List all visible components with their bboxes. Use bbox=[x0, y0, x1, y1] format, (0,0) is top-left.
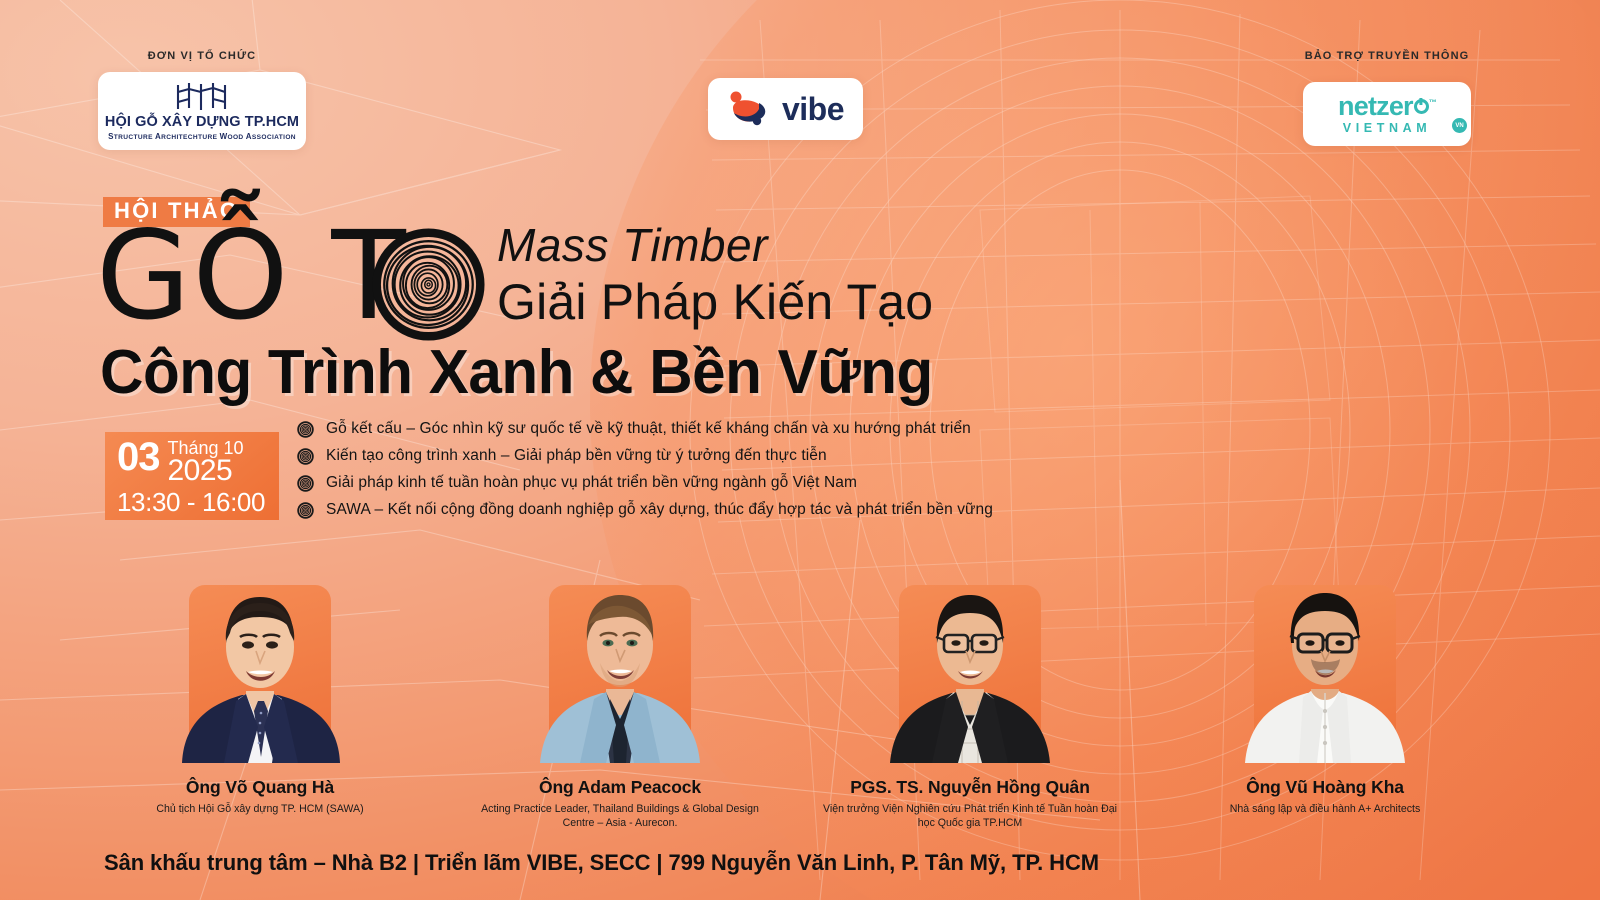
speaker-photo-frame bbox=[1145, 548, 1505, 763]
organizer-logo: HỘI GỖ XÂY DỰNG TP.HCM STRUCTURE ARCHITE… bbox=[98, 72, 306, 150]
list-item-label: Gỗ kết cấu – Góc nhìn kỹ sư quốc tế về k… bbox=[326, 420, 971, 438]
netzero-logo-country: VIETNAM bbox=[1343, 121, 1431, 135]
headline-giai-phap-kien-tao: Giải Pháp Kiến Tạo bbox=[497, 277, 933, 327]
headline-mass-timber: Mass Timber bbox=[497, 222, 768, 268]
date-box: 03 Tháng 10 2025 13:30 - 16:00 bbox=[105, 432, 279, 520]
list-item-label: Kiến tạo công trình xanh – Giải pháp bền… bbox=[326, 447, 827, 465]
speaker-photo-frame bbox=[80, 548, 440, 763]
list-item: Giải pháp kinh tế tuần hoàn phục vụ phát… bbox=[297, 474, 1297, 492]
speaker-role: Viện trưởng Viện Nghiên cứu Phát triển K… bbox=[790, 802, 1150, 831]
tree-ring-bullet-icon bbox=[297, 475, 314, 492]
headline-second-line: Công Trình Xanh & Bền Vững bbox=[100, 340, 933, 405]
portrait-adam-peacock bbox=[522, 551, 718, 763]
list-item-label: Giải pháp kinh tế tuần hoàn phục vụ phát… bbox=[326, 474, 857, 492]
organizer-logo-title: HỘI GỖ XÂY DỰNG TP.HCM bbox=[105, 114, 299, 130]
date-day: 03 bbox=[117, 438, 160, 476]
sawa-beam-mark-icon bbox=[171, 82, 233, 112]
vibe-logo-text: vibe bbox=[782, 91, 844, 128]
speaker-card: Ông Võ Quang Hà Chủ tịch Hội Gỗ xây dựng… bbox=[80, 548, 440, 816]
portrait-vu-hoang-kha bbox=[1227, 551, 1423, 763]
netzero-logo-word: netzer™ bbox=[1338, 93, 1436, 120]
venue-footer: Sân khấu trung tâm – Nhà B2 | Triển lãm … bbox=[104, 850, 1099, 876]
portrait-nguyen-hong-quan bbox=[872, 551, 1068, 763]
speaker-card: Ông Vũ Hoàng Kha Nhà sáng lập và điều hà… bbox=[1145, 548, 1505, 816]
media-partner-label: BẢO TRỢ TRUYỀN THÔNG bbox=[1303, 50, 1471, 62]
speaker-name: PGS. TS. Nguyễn Hồng Quân bbox=[790, 777, 1150, 798]
agenda-list: Gỗ kết cấu – Góc nhìn kỹ sư quốc tế về k… bbox=[297, 420, 1297, 528]
netzero-logo: netzer™ VIETNAM VN bbox=[1303, 82, 1471, 146]
speaker-photo-frame bbox=[790, 548, 1150, 763]
date-year: 2025 bbox=[168, 457, 244, 486]
speaker-card: Ông Adam Peacock Acting Practice Leader,… bbox=[440, 548, 800, 831]
list-item: Kiến tạo công trình xanh – Giải pháp bền… bbox=[297, 447, 1297, 465]
speaker-photo-frame bbox=[440, 548, 800, 763]
vibe-logo: vibe bbox=[708, 78, 863, 140]
tree-ring-bullet-icon bbox=[297, 502, 314, 519]
organizer-label: ĐƠN VỊ TỔ CHỨC bbox=[98, 50, 306, 62]
vibe-mark-icon bbox=[727, 89, 773, 129]
speaker-role: Acting Practice Leader, Thailand Buildin… bbox=[440, 802, 800, 831]
tree-ring-bullet-icon bbox=[297, 421, 314, 438]
list-item-label: SAWA – Kết nối cộng đồng doanh nghiệp gỗ… bbox=[326, 501, 993, 519]
speaker-card: PGS. TS. Nguyễn Hồng Quân Viện trưởng Vi… bbox=[790, 548, 1150, 831]
list-item: Gỗ kết cấu – Góc nhìn kỹ sư quốc tế về k… bbox=[297, 420, 1297, 438]
speaker-name: Ông Vũ Hoàng Kha bbox=[1145, 777, 1505, 798]
netzero-vn-badge: VN bbox=[1452, 118, 1467, 133]
speaker-role: Nhà sáng lập và điều hành A+ Architects bbox=[1145, 802, 1505, 816]
tree-ring-icon bbox=[372, 228, 485, 341]
speaker-name: Ông Võ Quang Hà bbox=[80, 777, 440, 798]
portrait-vo-quang-ha bbox=[162, 551, 358, 763]
speaker-name: Ông Adam Peacock bbox=[440, 777, 800, 798]
date-time: 13:30 - 16:00 bbox=[117, 487, 269, 518]
organizer-logo-subtitle: STRUCTURE ARCHITECHTURE WOOD ASSOCIATION bbox=[108, 132, 296, 141]
list-item: SAWA – Kết nối cộng đồng doanh nghiệp gỗ… bbox=[297, 501, 1297, 519]
tree-ring-bullet-icon bbox=[297, 448, 314, 465]
speaker-role: Chủ tịch Hội Gỗ xây dựng TP. HCM (SAWA) bbox=[80, 802, 440, 816]
event-poster: ĐƠN VỊ TỔ CHỨC HỘI GỖ XÂY DỰNG TP.HCM ST… bbox=[0, 0, 1600, 900]
